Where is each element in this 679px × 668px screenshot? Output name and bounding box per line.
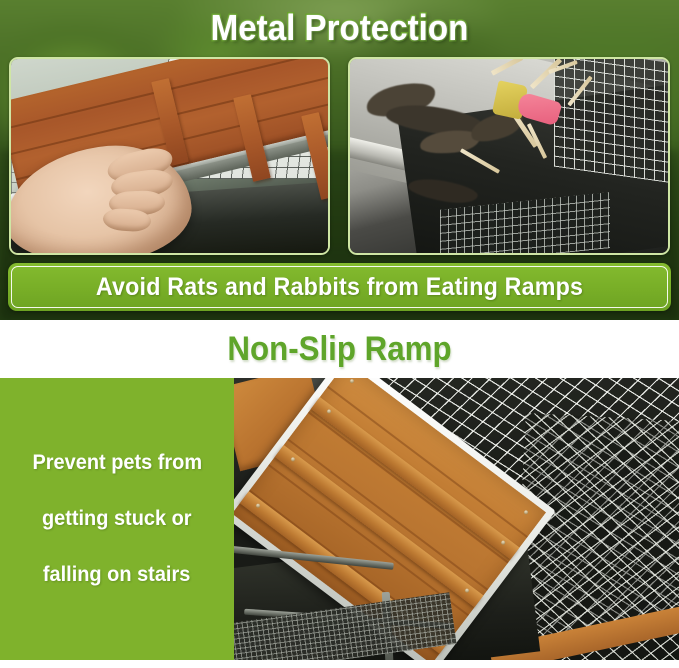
benefit-line: Prevent pets from: [32, 451, 202, 475]
metal-protection-section: Metal Protection: [0, 0, 679, 320]
bottom-margin: [0, 660, 679, 668]
metal-protection-caption-banner: Avoid Rats and Rabbits from Eating Ramps: [8, 263, 671, 311]
photo-hand-holding-metal-edged-ramp: [9, 57, 330, 255]
benefit-line: getting stuck or: [42, 507, 192, 531]
photo-installed-non-slip-ramp: [234, 378, 679, 660]
non-slip-benefit-panel: Prevent pets from getting stuck or falli…: [0, 378, 234, 660]
product-feature-infographic: Metal Protection: [0, 0, 679, 668]
benefit-line: falling on stairs: [43, 563, 190, 587]
metal-protection-title: Metal Protection: [27, 6, 652, 50]
photo-right-content: [350, 59, 668, 253]
photo-left-content: [11, 59, 328, 253]
non-slip-ramp-section: Prevent pets from getting stuck or falli…: [0, 378, 679, 660]
metal-protection-caption-text: Avoid Rats and Rabbits from Eating Ramps: [31, 263, 648, 311]
photo-chewed-damaged-ramp: [348, 57, 670, 255]
wire-mesh-panel: [554, 59, 668, 183]
non-slip-ramp-title: Non-Slip Ramp: [27, 327, 652, 371]
